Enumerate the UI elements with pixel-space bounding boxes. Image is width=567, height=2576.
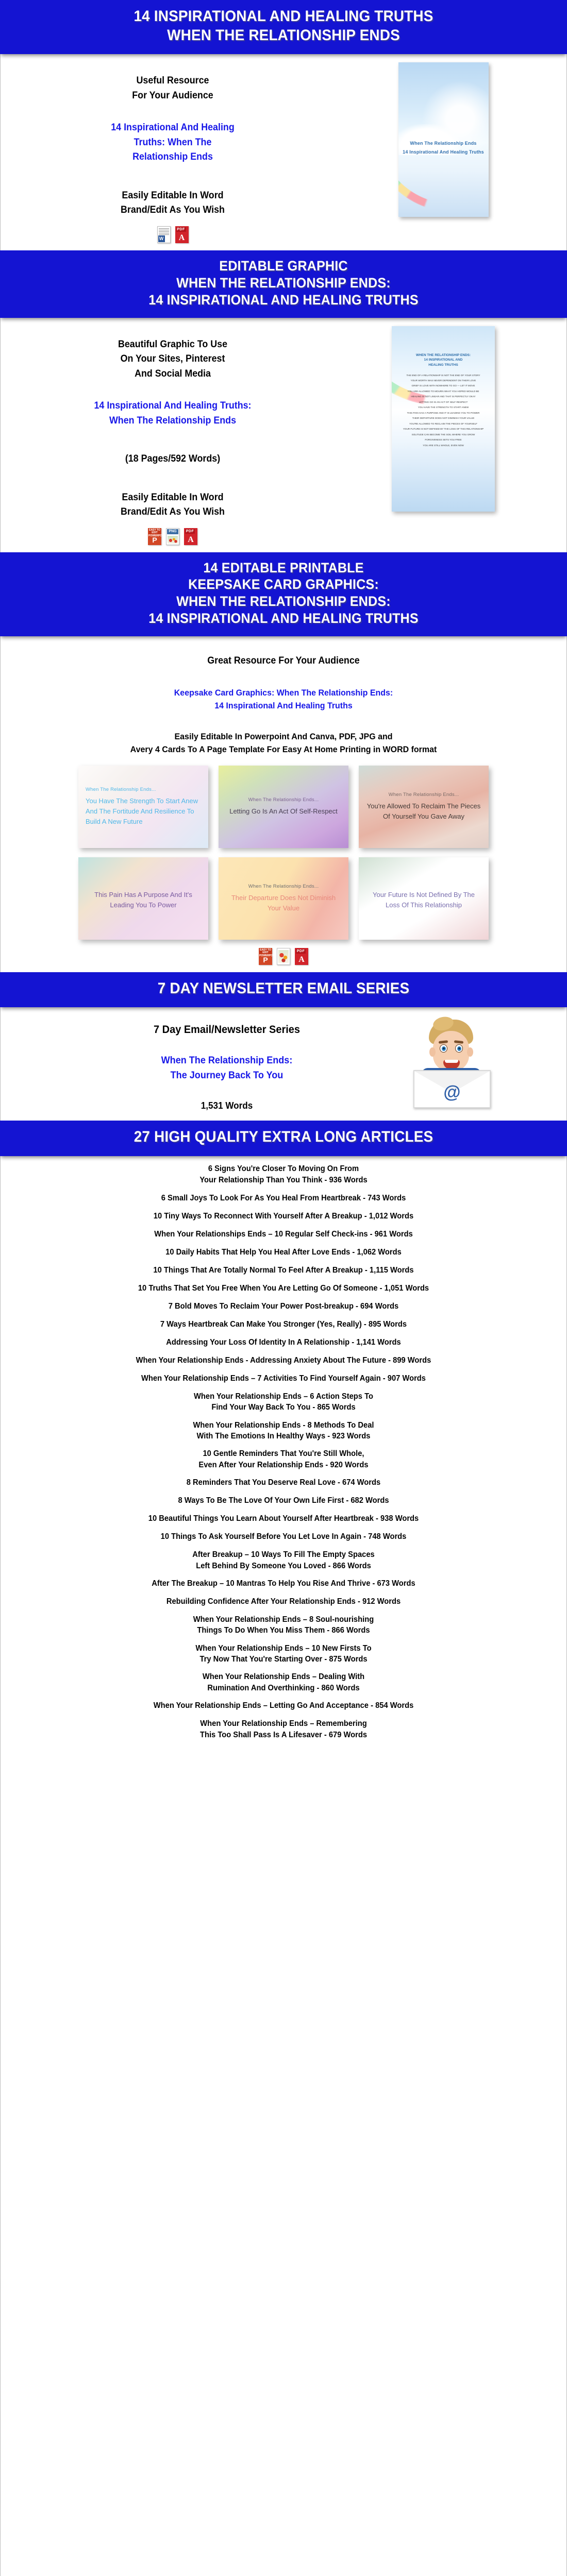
article-item: When Your Relationship Ends - Addressing… xyxy=(34,1355,533,1366)
banner-line: 27 HIGH QUALITY EXTRA LONG ARTICLES xyxy=(29,1128,538,1147)
banner-line: 7 DAY NEWSLETTER EMAIL SERIES xyxy=(29,979,538,998)
graphic-use-line: Beautiful Graphic To Use xyxy=(25,337,320,352)
keepsake-title-line: 14 Inspirational And Healing Truths xyxy=(17,699,550,713)
product-title-line: When The Relationship Ends xyxy=(25,414,320,429)
editable-note-line: Brand/Edit As You Wish xyxy=(25,505,320,520)
poster-truth-item: THEIR DEPARTURE DOES NOT DIMINISH YOUR V… xyxy=(398,416,489,420)
section-1-cover-wrap: When The Relationship Ends 14 Inspiratio… xyxy=(335,62,552,217)
poster-truth-item: GRIEF IS LOVE WITH NOWHERE TO GO — LET I… xyxy=(398,384,489,388)
article-item: 10 Tiny Ways To Reconnect With Yourself … xyxy=(34,1211,533,1222)
article-item: 7 Bold Moves To Reclaim Your Power Post-… xyxy=(34,1301,533,1312)
png-icon: PNG xyxy=(166,528,179,545)
editable-note-line: Easily Editable In Word xyxy=(25,490,320,505)
poster-title-line: HEALING TRUTHS xyxy=(397,363,490,368)
poster-truth-item: YOU HAVE THE STRENGTH TO START ANEW xyxy=(398,405,489,410)
article-item: Addressing Your Loss Of Identity In A Re… xyxy=(34,1337,533,1348)
article-line: 8 Reminders That You Deserve Real Love -… xyxy=(34,1477,533,1488)
section-4-content: 7 Day Email/Newsletter Series When The R… xyxy=(0,1007,567,1121)
article-line: 10 Daily Habits That Help You Heal After… xyxy=(34,1247,533,1258)
article-line: 8 Ways To Be The Love Of Your Own Life F… xyxy=(34,1495,533,1506)
graphic-use-line: And Social Media xyxy=(25,367,320,382)
keepsake-card: When The Relationship Ends... Their Depa… xyxy=(219,857,348,940)
poster-title-line: 14 INSPIRATIONAL AND xyxy=(397,358,490,363)
ebook-cover-image: When The Relationship Ends 14 Inspiratio… xyxy=(398,62,489,217)
word-icon: W xyxy=(157,226,171,243)
banner-section-5: 27 HIGH QUALITY EXTRA LONG ARTICLES xyxy=(0,1121,567,1156)
article-item: 6 Small Joys To Look For As You Heal Fro… xyxy=(34,1193,533,1204)
article-item: 10 Beautiful Things You Learn About Your… xyxy=(34,1513,533,1524)
article-line: 10 Things That Are Totally Normal To Fee… xyxy=(34,1265,533,1276)
jpg-icon xyxy=(277,948,290,965)
card-quote: You're Allowed To Reclaim The Pieces Of … xyxy=(366,801,481,822)
article-item: When Your Relationship Ends – Letting Go… xyxy=(34,1700,533,1711)
keepsake-card: When The Relationship Ends... You Have T… xyxy=(78,766,208,848)
article-line: When Your Relationship Ends – 8 Soul-nou… xyxy=(34,1614,533,1625)
article-line: When Your Relationship Ends – 6 Action S… xyxy=(34,1391,533,1402)
card-eyebrow: When The Relationship Ends... xyxy=(248,797,319,803)
article-line: When Your Relationship Ends - 8 Methods … xyxy=(34,1420,533,1431)
article-item: When Your Relationship Ends – 7 Activiti… xyxy=(34,1373,533,1384)
pdf-icon: PDFA xyxy=(295,948,308,965)
article-item: When Your Relationship Ends – Dealing Wi… xyxy=(34,1671,533,1693)
banner-line: 14 EDITABLE PRINTABLE xyxy=(29,560,538,577)
section-2-text: Beautiful Graphic To Use On Your Sites, … xyxy=(15,326,330,545)
poster-truth-item: YOU'RE ALLOWED TO RECLAIM THE PIECES OF … xyxy=(398,422,489,426)
product-title-line: 14 Inspirational And Healing xyxy=(25,121,320,135)
powerpoint-icon: EASY TO EDITPOWERPOINTP xyxy=(259,948,272,965)
pages-words-count: (18 Pages/592 Words) xyxy=(25,452,320,467)
article-item: 8 Reminders That You Deserve Real Love -… xyxy=(34,1477,533,1488)
banner-line: WHEN THE RELATIONSHIP ENDS: xyxy=(29,275,538,292)
newsletter-text: 7 Day Email/Newsletter Series When The R… xyxy=(67,1019,387,1111)
poster-truth-item: YOUR WORTH WAS NEVER DEPENDENT ON THEIR … xyxy=(398,379,489,383)
article-line: Left Behind By Someone You Loved - 866 W… xyxy=(34,1561,533,1571)
banner-line: KEEPSAKE CARD GRAPHICS: xyxy=(29,576,538,593)
article-line: When Your Relationship Ends – 7 Activiti… xyxy=(34,1373,533,1384)
article-line: When Your Relationship Ends – 10 New Fir… xyxy=(34,1643,533,1654)
pdf-icon: PDFA xyxy=(175,226,189,243)
editable-note-line: Avery 4 Cards To A Page Template For Eas… xyxy=(17,743,550,756)
banner-line: 14 INSPIRATIONAL AND HEALING TRUTHS xyxy=(29,610,538,627)
article-line: 6 Small Joys To Look For As You Heal Fro… xyxy=(34,1193,533,1204)
email-mascot-icon: @ xyxy=(402,1019,500,1109)
poster-truth-item: THIS PAIN HAS A PURPOSE AND IT IS LEADIN… xyxy=(398,411,489,415)
banner-line: WHEN THE RELATIONSHIP ENDS: xyxy=(29,593,538,610)
banner-line: WHEN THE RELATIONSHIP ENDS xyxy=(29,26,538,45)
card-quote: Their Departure Does Not Diminish Your V… xyxy=(226,893,341,913)
article-line: When Your Relationship Ends – Letting Go… xyxy=(34,1700,533,1711)
newsletter-title-line: When The Relationship Ends: xyxy=(75,1054,379,1069)
article-item: 10 Things To Ask Yourself Before You Let… xyxy=(34,1531,533,1543)
banner-section-4: 7 DAY NEWSLETTER EMAIL SERIES xyxy=(0,972,567,1008)
product-title-line: 14 Inspirational And Healing Truths: xyxy=(25,399,320,414)
article-line: Try Now That You're Starting Over - 875 … xyxy=(34,1654,533,1665)
keepsake-card-grid: When The Relationship Ends... You Have T… xyxy=(0,766,567,940)
sales-page: 14 INSPIRATIONAL AND HEALING TRUTHS WHEN… xyxy=(0,0,567,2576)
useful-resource-line: For Your Audience xyxy=(25,89,320,104)
format-icons-section-1: W PDFA xyxy=(15,226,330,243)
product-title-line: Relationship Ends xyxy=(25,150,320,165)
card-quote: You Have The Strength To Start Anew And … xyxy=(86,796,201,827)
editable-note-line: Brand/Edit As You Wish xyxy=(25,203,320,218)
format-icons-section-2: EASY TO EDITPOWERPOINTP PNG PDFA xyxy=(15,528,330,545)
editable-note-line: Easily Editable In Powerpoint And Canva,… xyxy=(17,730,550,743)
graphic-use-line: On Your Sites, Pinterest xyxy=(25,352,320,367)
article-item: Rebuilding Confidence After Your Relatio… xyxy=(34,1596,533,1607)
banner-section-3: 14 EDITABLE PRINTABLE KEEPSAKE CARD GRAP… xyxy=(0,552,567,637)
article-line: When Your Relationships Ends – 10 Regula… xyxy=(34,1229,533,1240)
great-resource-line: Great Resource For Your Audience xyxy=(17,654,550,669)
article-line: 10 Gentle Reminders That You're Still Wh… xyxy=(34,1448,533,1459)
format-icons-section-3: EASY TO EDITPOWERPOINTP PDFA xyxy=(0,948,567,965)
poster-title: WHEN THE RELATIONSHIP ENDS: 14 INSPIRATI… xyxy=(397,353,490,368)
card-quote: This Pain Has A Purpose And It's Leading… xyxy=(86,890,201,910)
article-line: 6 Signs You're Closer To Moving On From xyxy=(34,1163,533,1175)
article-item: 6 Signs You're Closer To Moving On From … xyxy=(34,1163,533,1186)
article-item: When Your Relationship Ends - 8 Methods … xyxy=(34,1420,533,1442)
article-line: Rumination And Overthinking - 860 Words xyxy=(34,1683,533,1693)
section-2-content: Beautiful Graphic To Use On Your Sites, … xyxy=(0,318,567,552)
newsletter-heading: 7 Day Email/Newsletter Series xyxy=(75,1024,379,1036)
article-line: 10 Things To Ask Yourself Before You Let… xyxy=(34,1531,533,1543)
article-line: After Breakup – 10 Ways To Fill The Empt… xyxy=(34,1549,533,1560)
card-eyebrow: When The Relationship Ends... xyxy=(389,792,459,798)
article-line: 10 Tiny Ways To Reconnect With Yourself … xyxy=(34,1211,533,1222)
keepsake-card: When The Relationship Ends... You're All… xyxy=(359,766,489,848)
article-line: Addressing Your Loss Of Identity In A Re… xyxy=(34,1337,533,1348)
powerpoint-icon: EASY TO EDITPOWERPOINTP xyxy=(148,528,161,545)
article-line: Your Relationship Than You Think - 936 W… xyxy=(34,1175,533,1186)
article-list: 6 Signs You're Closer To Moving On From … xyxy=(0,1156,567,1761)
article-item: 10 Things That Are Totally Normal To Fee… xyxy=(34,1265,533,1276)
poster-truth-item: YOU ARE ALLOWED TO MOURN WHAT YOU HOPED … xyxy=(398,389,489,394)
banner-section-1: 14 INSPIRATIONAL AND HEALING TRUTHS WHEN… xyxy=(0,0,567,54)
article-line: When Your Relationship Ends – Dealing Wi… xyxy=(34,1671,533,1682)
banner-section-2: EDITABLE GRAPHIC WHEN THE RELATIONSHIP E… xyxy=(0,250,567,318)
article-item: 8 Ways To Be The Love Of Your Own Life F… xyxy=(34,1495,533,1506)
section-1-text: Useful Resource For Your Audience 14 Ins… xyxy=(15,62,330,243)
article-item: 10 Truths That Set You Free When You Are… xyxy=(34,1283,533,1294)
article-item: When Your Relationship Ends – 6 Action S… xyxy=(34,1391,533,1413)
poster-truth-item: YOU ARE STILL WHOLE, EVEN NOW xyxy=(398,444,489,448)
keepsake-card: When The Relationship Ends... Letting Go… xyxy=(219,766,348,848)
banner-line: 14 INSPIRATIONAL AND HEALING TRUTHS xyxy=(29,7,538,26)
section-3-content: Great Resource For Your Audience Keepsak… xyxy=(0,636,567,972)
article-line: Even After Your Relationship Ends - 920 … xyxy=(34,1460,533,1470)
card-quote: Letting Go Is An Act Of Self-Respect xyxy=(229,806,338,817)
pdf-icon: PDFA xyxy=(184,528,197,545)
article-item: When Your Relationship Ends – Rememberin… xyxy=(34,1718,533,1740)
article-item: After The Breakup – 10 Mantras To Help Y… xyxy=(34,1578,533,1589)
graphic-poster-image: WHEN THE RELATIONSHIP ENDS: 14 INSPIRATI… xyxy=(392,326,495,512)
poster-truth-item: SOLITUDE CAN BECOME THE SOIL WHERE YOU G… xyxy=(398,433,489,437)
section-2-poster-wrap: WHEN THE RELATIONSHIP ENDS: 14 INSPIRATI… xyxy=(335,326,552,512)
poster-truth-item: THE END OF A RELATIONSHIP IS NOT THE END… xyxy=(398,374,489,378)
section-1-content: Useful Resource For Your Audience 14 Ins… xyxy=(0,54,567,250)
keepsake-card: Your Future Is Not Defined By The Loss O… xyxy=(359,857,489,940)
article-line: When Your Relationship Ends – Rememberin… xyxy=(34,1718,533,1729)
article-line: 7 Bold Moves To Reclaim Your Power Post-… xyxy=(34,1301,533,1312)
article-item: When Your Relationship Ends – 8 Soul-nou… xyxy=(34,1614,533,1636)
article-item: When Your Relationship Ends – 10 New Fir… xyxy=(34,1643,533,1665)
article-line: When Your Relationship Ends - Addressing… xyxy=(34,1355,533,1366)
article-line: 10 Beautiful Things You Learn About Your… xyxy=(34,1513,533,1524)
article-line: Things To Do When You Miss Them - 866 Wo… xyxy=(34,1625,533,1636)
poster-truth-item: YOUR FUTURE IS NOT DEFINED BY THE LOSS O… xyxy=(398,427,489,431)
article-line: Rebuilding Confidence After Your Relatio… xyxy=(34,1596,533,1607)
article-line: Find Your Way Back To You - 865 Words xyxy=(34,1402,533,1413)
article-item: After Breakup – 10 Ways To Fill The Empt… xyxy=(34,1549,533,1571)
banner-line: 14 INSPIRATIONAL AND HEALING TRUTHS xyxy=(29,292,538,309)
card-quote: Your Future Is Not Defined By The Loss O… xyxy=(366,890,481,910)
editable-note-line: Easily Editable In Word xyxy=(25,189,320,204)
poster-truth-list: THE END OF A RELATIONSHIP IS NOT THE END… xyxy=(398,374,489,449)
poster-truth-item: LETTING GO IS AN ACT OF SELF-RESPECT xyxy=(398,400,489,404)
card-eyebrow: When The Relationship Ends... xyxy=(86,787,156,792)
card-eyebrow: When The Relationship Ends... xyxy=(248,884,319,889)
newsletter-word-count: 1,531 Words xyxy=(75,1100,379,1111)
banner-line: EDITABLE GRAPHIC xyxy=(29,258,538,275)
article-item: 10 Daily Habits That Help You Heal After… xyxy=(34,1247,533,1258)
article-line: 10 Truths That Set You Free When You Are… xyxy=(34,1283,533,1294)
article-line: 7 Ways Heartbreak Can Make You Stronger … xyxy=(34,1319,533,1330)
article-line: This Too Shall Pass Is A Lifesaver - 679… xyxy=(34,1730,533,1740)
article-item: When Your Relationships Ends – 10 Regula… xyxy=(34,1229,533,1240)
keepsake-card: This Pain Has A Purpose And It's Leading… xyxy=(78,857,208,940)
poster-title-line: WHEN THE RELATIONSHIP ENDS: xyxy=(397,353,490,358)
keepsake-title-line: Keepsake Card Graphics: When The Relatio… xyxy=(17,686,550,700)
newsletter-title-line: The Journey Back To You xyxy=(75,1069,379,1083)
poster-truth-item: HEALING IS NOT LINEAR AND THAT IS PERFEC… xyxy=(398,395,489,399)
article-line: With The Emotions In Healthy Ways - 923 … xyxy=(34,1431,533,1442)
cover-line-1: When The Relationship Ends xyxy=(402,141,486,146)
article-line: After The Breakup – 10 Mantras To Help Y… xyxy=(34,1578,533,1589)
cover-line-2: 14 Inspirational And Healing Truths xyxy=(402,149,486,155)
product-title-line: Truths: When The xyxy=(25,135,320,150)
poster-truth-item: FORGIVENESS SETS YOU FREE xyxy=(398,438,489,442)
article-item: 7 Ways Heartbreak Can Make You Stronger … xyxy=(34,1319,533,1330)
article-item: 10 Gentle Reminders That You're Still Wh… xyxy=(34,1448,533,1470)
useful-resource-line: Useful Resource xyxy=(25,74,320,89)
